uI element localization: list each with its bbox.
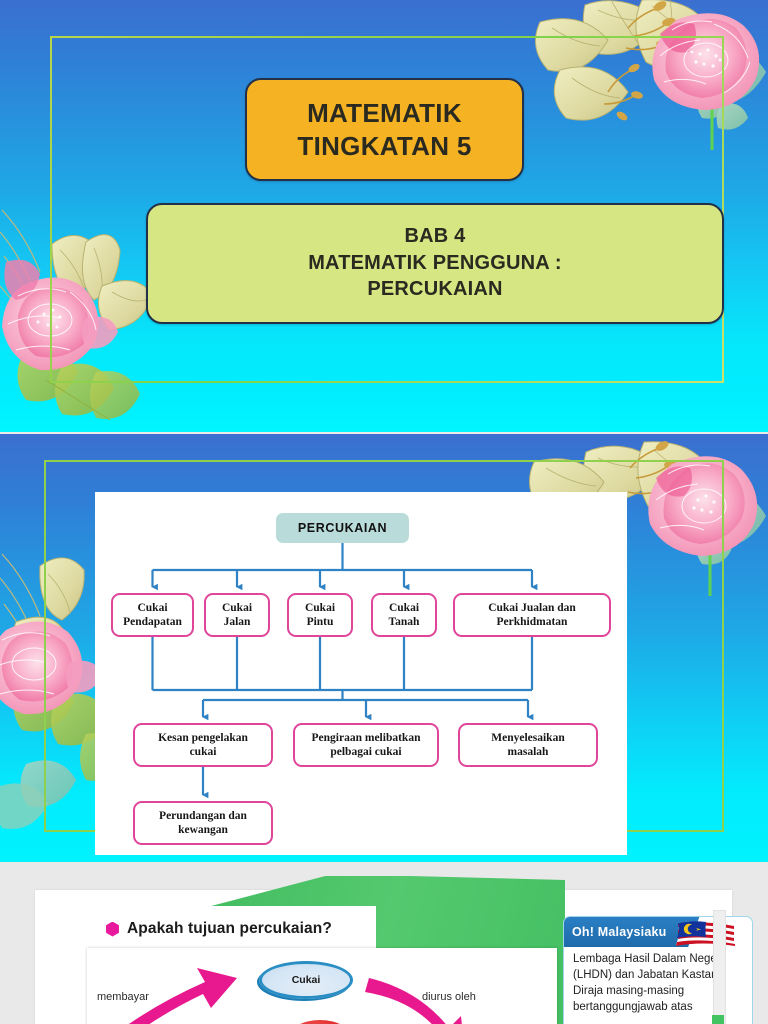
node-line-1: Pengiraan melibatkan [312, 732, 421, 744]
node-line-2: Pendapatan [123, 616, 182, 628]
node-line-2: masalah [508, 746, 549, 758]
node-line-1: Perundangan dan [159, 810, 247, 822]
node-line-2: Perkhidmatan [497, 616, 568, 628]
node-line-1: Menyelesaikan [491, 732, 564, 744]
slide-3-partial: Apakah tujuan percukaian? Cukai membayar… [0, 876, 768, 1024]
node-line-1: Kesan pengelakan [158, 732, 248, 744]
malaysia-flag-icon [672, 919, 744, 949]
diagram-root-node: PERCUKAIAN [276, 513, 409, 543]
node-line-2: Jalan [224, 616, 251, 628]
root-label: PERCUKAIAN [298, 521, 387, 535]
subtitle-line-2: MATEMATIK PENGGUNA : [308, 251, 562, 277]
slide1-title-box: MATEMATIK TINGKATAN 5 [245, 78, 524, 181]
node-line-1: Cukai Jualan dan [488, 602, 576, 614]
node-line-2: Tanah [389, 616, 420, 628]
hexagon-bullet-icon [105, 922, 120, 937]
slide3-white-background: Apakah tujuan percukaian? Cukai membayar… [35, 890, 732, 1024]
taxation-tree-diagram: PERCUKAIAN Cukai Pendapatan Cukai Jalan … [95, 492, 627, 855]
question-text: Apakah tujuan percukaian? [127, 920, 332, 938]
title-line-2: TINGKATAN 5 [297, 131, 471, 162]
node-line-2: kewangan [178, 824, 228, 836]
slide-1-title: MATEMATIK TINGKATAN 5 BAB 4 MATEMATIK PE… [0, 0, 768, 432]
node-line-1: Cukai [305, 602, 335, 614]
subtitle-line-3: PERCUKAIAN [367, 277, 502, 303]
node-line-1: Cukai [137, 602, 167, 614]
node-kesan-pengelakan-cukai: Kesan pengelakan cukai [133, 723, 273, 767]
node-cukai-jalan: Cukai Jalan [204, 593, 270, 637]
node-menyelesaikan-masalah: Menyelesaikan masalah [458, 723, 598, 767]
cukai-oval-label: Cukai [292, 974, 321, 986]
node-line-1: Cukai [222, 602, 252, 614]
slide1-subtitle-box: BAB 4 MATEMATIK PENGGUNA : PERCUKAIAN [146, 203, 724, 324]
question-banner: Apakah tujuan percukaian? [93, 906, 376, 952]
cukai-oval: Cukai [259, 961, 353, 999]
document-scrollbar[interactable] [713, 910, 726, 1024]
slide-deck-page: MATEMATIK TINGKATAN 5 BAB 4 MATEMATIK PE… [0, 0, 768, 1024]
node-cukai-pintu: Cukai Pintu [287, 593, 353, 637]
label-membayar: membayar [97, 991, 149, 1003]
node-line-2: cukai [190, 746, 217, 758]
slide-2-diagram: PERCUKAIAN Cukai Pendapatan Cukai Jalan … [0, 434, 768, 862]
node-line-1: Cukai [389, 602, 419, 614]
node-line-2: Pintu [307, 616, 334, 628]
green-accent-chip [712, 1015, 724, 1024]
label-diurus-oleh: diurus oleh [422, 991, 476, 1003]
node-pengiraan-melibatkan-pelbagai-cukai: Pengiraan melibatkan pelbagai cukai [293, 723, 439, 767]
tax-cycle-card: Cukai membayar diurus oleh [87, 948, 557, 1024]
node-cukai-jualan-dan-perkhidmatan: Cukai Jualan dan Perkhidmatan [453, 593, 611, 637]
node-cukai-tanah: Cukai Tanah [371, 593, 437, 637]
info-card-heading: Oh! Malaysiaku [564, 925, 667, 939]
node-line-2: pelbagai cukai [330, 746, 401, 758]
title-line-1: MATEMATIK [307, 98, 462, 129]
node-cukai-pendapatan: Cukai Pendapatan [111, 593, 194, 637]
diagram-canvas: PERCUKAIAN Cukai Pendapatan Cukai Jalan … [95, 492, 627, 855]
subtitle-line-1: BAB 4 [404, 224, 465, 250]
node-perundangan-dan-kewangan: Perundangan dan kewangan [133, 801, 273, 845]
